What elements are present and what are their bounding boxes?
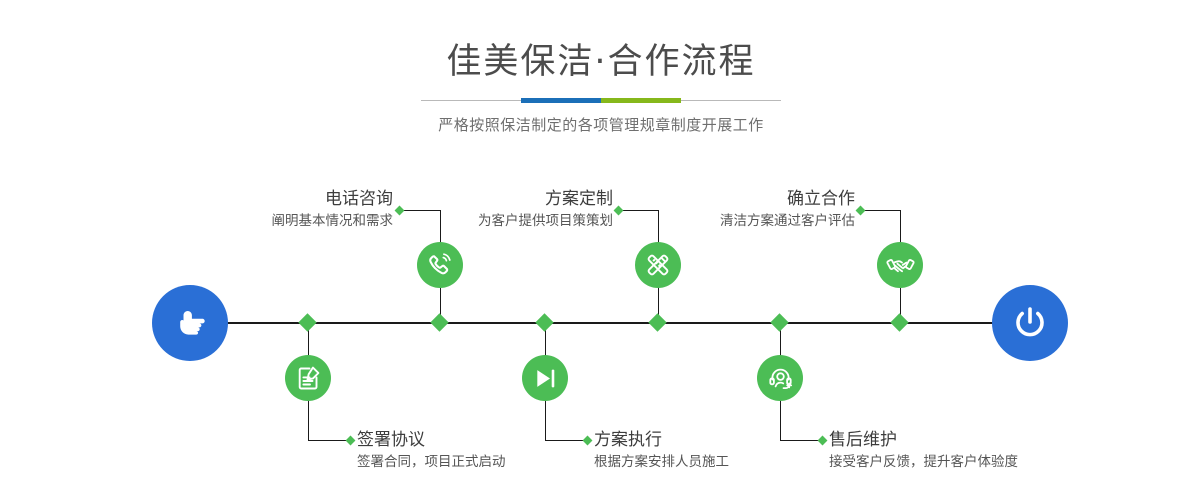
step-desc: 阐明基本情况和需求 — [148, 211, 393, 231]
step-node-headset-support-add[interactable] — [757, 355, 803, 401]
step-node-play-next[interactable] — [522, 355, 568, 401]
page-subtitle: 严格按照保洁制定的各项管理规章制度开展工作 — [0, 114, 1202, 135]
step-tip-diamond-bottom-1 — [346, 436, 356, 446]
step-label-top-2: 方案定制 为客户提供项目策策划 — [370, 188, 613, 231]
play-next-icon — [532, 365, 559, 392]
timeline-start-badge — [152, 285, 228, 361]
step-tip-diamond-top-3 — [856, 206, 866, 216]
step-node-pencil-ruler[interactable] — [635, 242, 681, 288]
page-header: 佳美保洁·合作流程 严格按照保洁制定的各项管理规章制度开展工作 — [0, 0, 1202, 135]
document-edit-icon — [295, 365, 322, 392]
power-icon — [1009, 302, 1051, 344]
connector-hline-4 — [308, 440, 350, 441]
axis-diamond-4 — [648, 313, 666, 331]
axis-diamond-2 — [430, 313, 448, 331]
step-label-bottom-3: 售后维护 接受客户反馈，提升客户体验度 — [829, 429, 1109, 472]
phone-call-icon — [426, 251, 454, 279]
handshake-icon — [886, 251, 915, 280]
axis-diamond-3 — [535, 313, 553, 331]
divider-segment-green — [601, 98, 681, 103]
step-title: 签署协议 — [357, 429, 617, 451]
axis-diamond-5 — [770, 313, 788, 331]
axis-diamond-1 — [298, 313, 316, 331]
step-node-document-edit[interactable] — [285, 355, 331, 401]
flow-diagram-page: 佳美保洁·合作流程 严格按照保洁制定的各项管理规章制度开展工作 — [0, 0, 1202, 502]
step-node-handshake[interactable] — [877, 242, 923, 288]
step-title: 电话咨询 — [148, 188, 393, 210]
step-desc: 根据方案安排人员施工 — [594, 452, 854, 472]
step-label-bottom-1: 签署协议 签署合同，项目正式启动 — [357, 429, 617, 472]
step-desc: 接受客户反馈，提升客户体验度 — [829, 452, 1109, 472]
timeline-end-badge — [992, 285, 1068, 361]
step-title: 方案执行 — [594, 429, 854, 451]
step-title: 确立合作 — [612, 188, 855, 210]
step-label-top-3: 确立合作 清洁方案通过客户评估 — [612, 188, 855, 231]
step-desc: 清洁方案通过客户评估 — [612, 211, 855, 231]
step-label-top-1: 电话咨询 阐明基本情况和需求 — [148, 188, 393, 231]
divider-segment-blue — [521, 98, 601, 103]
page-title: 佳美保洁·合作流程 — [0, 40, 1202, 84]
headset-support-add-icon — [767, 365, 794, 392]
step-label-bottom-2: 方案执行 根据方案安排人员施工 — [594, 429, 854, 472]
step-desc: 为客户提供项目策策划 — [370, 211, 613, 231]
title-divider — [0, 96, 1202, 106]
step-title: 方案定制 — [370, 188, 613, 210]
axis-diamond-6 — [890, 313, 908, 331]
step-desc: 签署合同，项目正式启动 — [357, 452, 617, 472]
pencil-ruler-icon — [644, 251, 672, 279]
pointing-hand-icon — [170, 303, 210, 343]
step-title: 售后维护 — [829, 429, 1109, 451]
step-node-phone-call[interactable] — [417, 242, 463, 288]
